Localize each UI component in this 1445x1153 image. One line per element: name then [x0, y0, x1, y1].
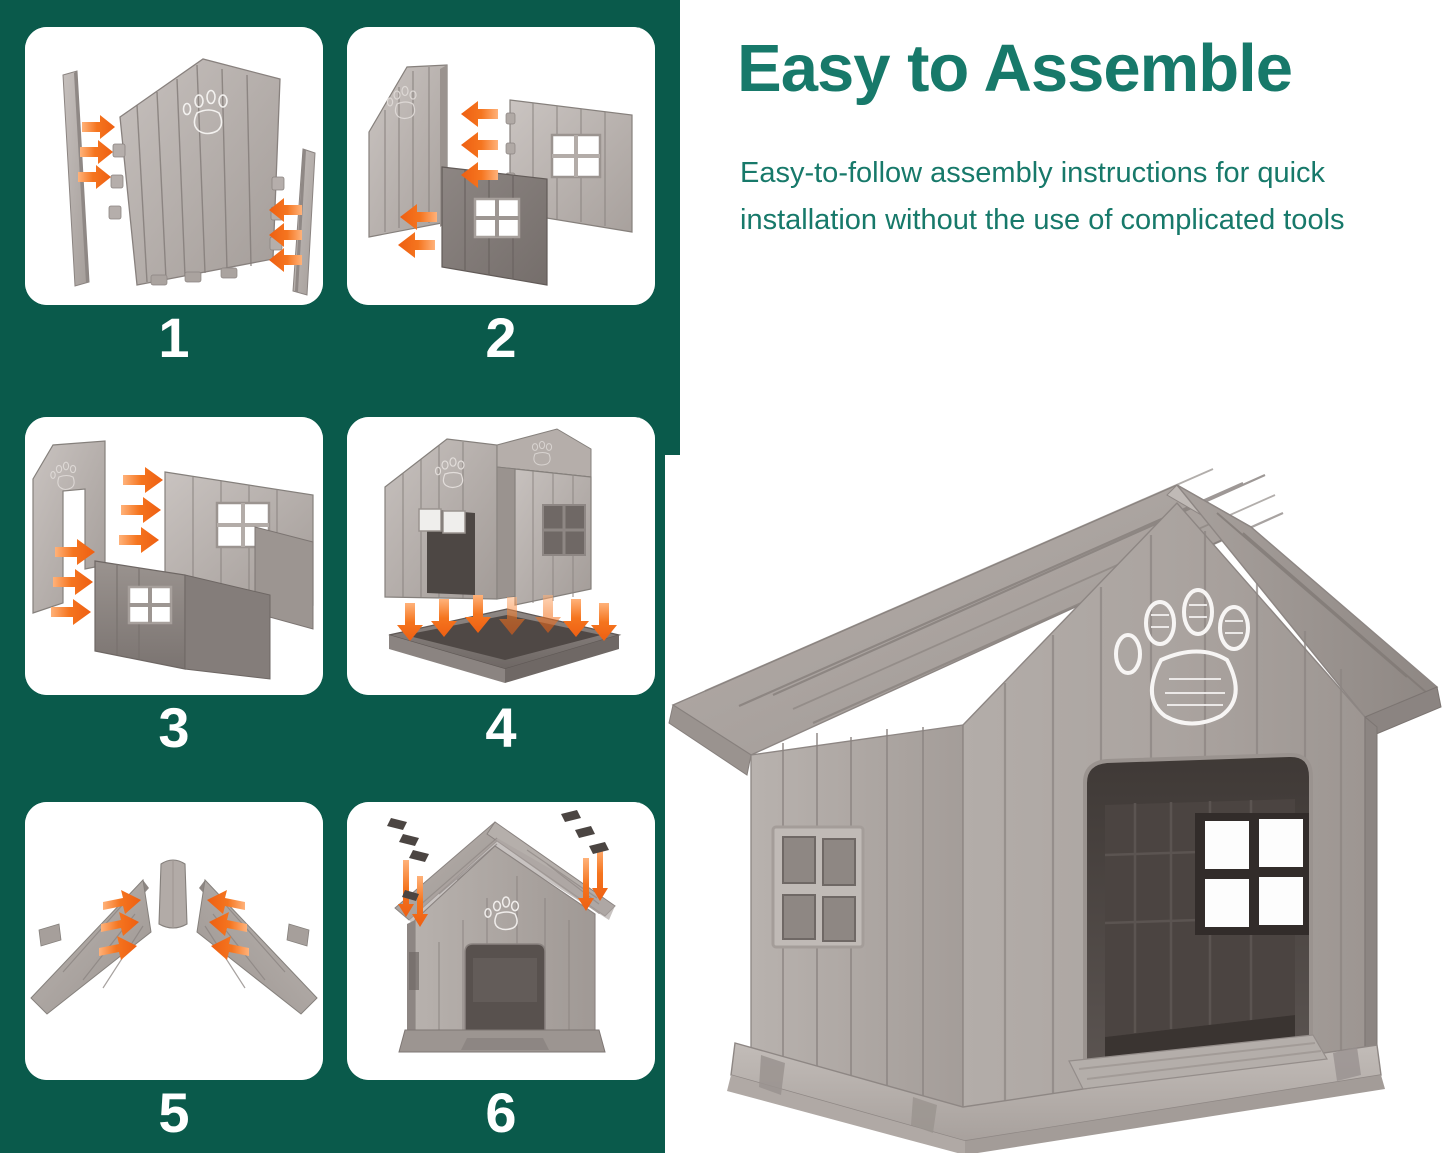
step-card-2	[347, 27, 655, 305]
step-number-6: 6	[347, 1085, 655, 1141]
window-frame	[475, 199, 519, 237]
step-card-1	[25, 27, 323, 305]
step-number-4: 4	[347, 700, 655, 756]
step-card-5	[25, 802, 323, 1080]
front-wall-dark	[442, 167, 547, 285]
right-side-edge	[1365, 717, 1377, 1055]
window-frame	[129, 587, 171, 623]
assembly-steps-panel: 1	[0, 0, 680, 1153]
product-hero-image	[665, 455, 1445, 1153]
step-card-3	[25, 417, 323, 695]
window-frame	[552, 135, 600, 177]
step-card-6	[347, 802, 655, 1080]
step-1-illustration	[25, 27, 323, 305]
infographic-page: 1	[0, 0, 1445, 1153]
roof-ridge-cap	[159, 860, 187, 928]
page-subtitle: Easy-to-follow assembly instructions for…	[740, 150, 1405, 244]
base	[399, 1030, 605, 1052]
assembly-arrows-right	[269, 198, 302, 272]
dog-house-illustration	[665, 455, 1445, 1153]
step-6-illustration	[347, 802, 655, 1080]
step-3-illustration	[25, 417, 323, 695]
interior-window	[1195, 813, 1309, 935]
step-number-3: 3	[25, 700, 323, 756]
step-number-5: 5	[25, 1085, 323, 1141]
step-5-illustration	[25, 802, 323, 1080]
page-title: Easy to Assemble	[737, 33, 1397, 105]
window-frame	[543, 505, 585, 555]
step-number-1: 1	[25, 310, 323, 366]
door-opening	[1085, 755, 1311, 1069]
step-number-2: 2	[347, 310, 655, 366]
side-window	[773, 827, 863, 947]
step-card-4	[347, 417, 655, 695]
assembly-arrows-left	[78, 115, 115, 189]
step-4-illustration	[347, 417, 655, 695]
steps-grid: 1	[0, 0, 680, 1153]
step-2-illustration	[347, 27, 655, 305]
